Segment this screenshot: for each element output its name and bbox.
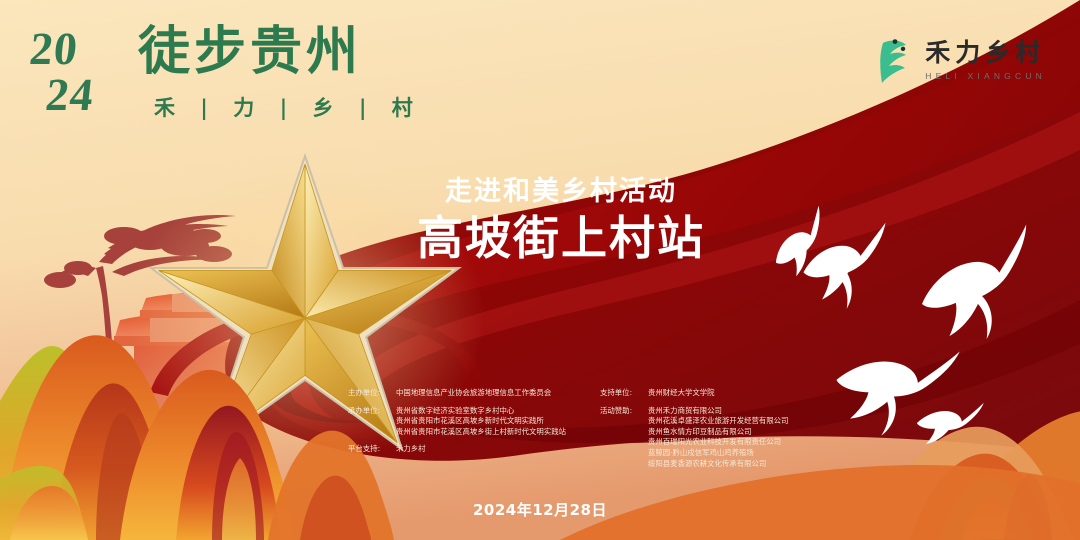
heli-name-cn: 禾力乡村 [925, 39, 1046, 67]
credit-row: 平台支持:禾力乡村 [348, 444, 566, 455]
credit-value: 禾力乡村 [396, 444, 426, 455]
credit-value: 贵州禾力商贸有限公司 [648, 406, 788, 417]
poster-canvas: 20 24 徒步贵州 禾 | 力 | 乡 | 村 禾力乡村 HELI XIANG… [0, 0, 1080, 540]
credit-values: 贵州禾力商贸有限公司贵州花溪卓盛泽农业旅游开发经营有限公司贵州鱼水情方印豆制品有… [648, 406, 788, 470]
credit-values: 贵州省数字经济实验室数字乡村中心贵州省贵阳市花溪区高坡乡新时代文明实践所贵州省贵… [396, 406, 566, 438]
credit-value: 中国地理信息产业协会旅游地理信息工作委员会 [396, 388, 551, 399]
credit-value: 蓝鲸园·黔山戍信军鸡山鸡养殖场 [648, 448, 788, 459]
headline-subtitle: 走进和美乡村活动 [396, 176, 726, 208]
poster-headline: 走进和美乡村活动 高坡街上村站 [396, 176, 726, 266]
brand-heli-xiangcun: 禾力乡村 HELI XIANGCUN [873, 30, 1046, 90]
credit-value: 贵州省贵阳市花溪区高坡乡街上村新时代文明实践站 [396, 427, 566, 438]
credit-row: 活动赞助:贵州禾力商贸有限公司贵州花溪卓盛泽农业旅游开发经营有限公司贵州鱼水情方… [600, 406, 788, 470]
credit-row: 主办单位:中国地理信息产业协会旅游地理信息工作委员会 [348, 388, 566, 399]
credit-label: 支持单位: [600, 388, 648, 399]
credit-label: 活动赞助: [600, 406, 648, 470]
credit-value: 贵州花溪卓盛泽农业旅游开发经营有限公司 [648, 416, 788, 427]
credit-value: 贵州财经大学文学院 [648, 388, 715, 399]
credit-row: 支持单位:贵州财经大学文学院 [600, 388, 788, 399]
credits-left-column: 主办单位:中国地理信息产业协会旅游地理信息工作委员会承办单位:贵州省数字经济实验… [348, 388, 566, 462]
credit-label: 承办单位: [348, 406, 396, 438]
credit-row: 承办单位:贵州省数字经济实验室数字乡村中心贵州省贵阳市花溪区高坡乡新时代文明实践… [348, 406, 566, 438]
credits-right-column: 支持单位:贵州财经大学文学院活动赞助:贵州禾力商贸有限公司贵州花溪卓盛泽农业旅游… [600, 388, 788, 476]
event-date: 2024年12月28日 [0, 500, 1080, 520]
headline-main: 高坡街上村站 [396, 210, 726, 266]
credit-values: 贵州财经大学文学院 [648, 388, 715, 399]
year-2024: 20 24 [30, 26, 126, 126]
credit-label: 平台支持: [348, 444, 396, 455]
credit-value: 贵州鱼水情方印豆制品有限公司 [648, 427, 788, 438]
credit-value: 贵州百瑞阳光农业科技开发有限责任公司 [648, 437, 788, 448]
credit-value: 绥阳县麦香源农耕文化传承有限公司 [648, 459, 788, 470]
heli-leaf-icon [873, 37, 913, 83]
brand-walk-guizhou: 20 24 徒步贵州 禾 | 力 | 乡 | 村 [26, 18, 396, 138]
year-bottom: 24 [44, 72, 129, 118]
credit-value: 贵州省贵阳市花溪区高坡乡新时代文明实践所 [396, 416, 566, 427]
year-top: 20 [28, 26, 129, 72]
credit-value: 贵州省数字经济实验室数字乡村中心 [396, 406, 566, 417]
heli-name-en: HELI XIANGCUN [925, 70, 1046, 82]
heli-text-block: 禾力乡村 HELI XIANGCUN [925, 39, 1046, 82]
brand-title-cn: 徒步贵州 [138, 24, 362, 80]
credit-values: 禾力乡村 [396, 444, 426, 455]
credit-values: 中国地理信息产业协会旅游地理信息工作委员会 [396, 388, 551, 399]
brand-subtitle-cn: 禾 | 力 | 乡 | 村 [154, 96, 422, 120]
credit-label: 主办单位: [348, 388, 396, 399]
